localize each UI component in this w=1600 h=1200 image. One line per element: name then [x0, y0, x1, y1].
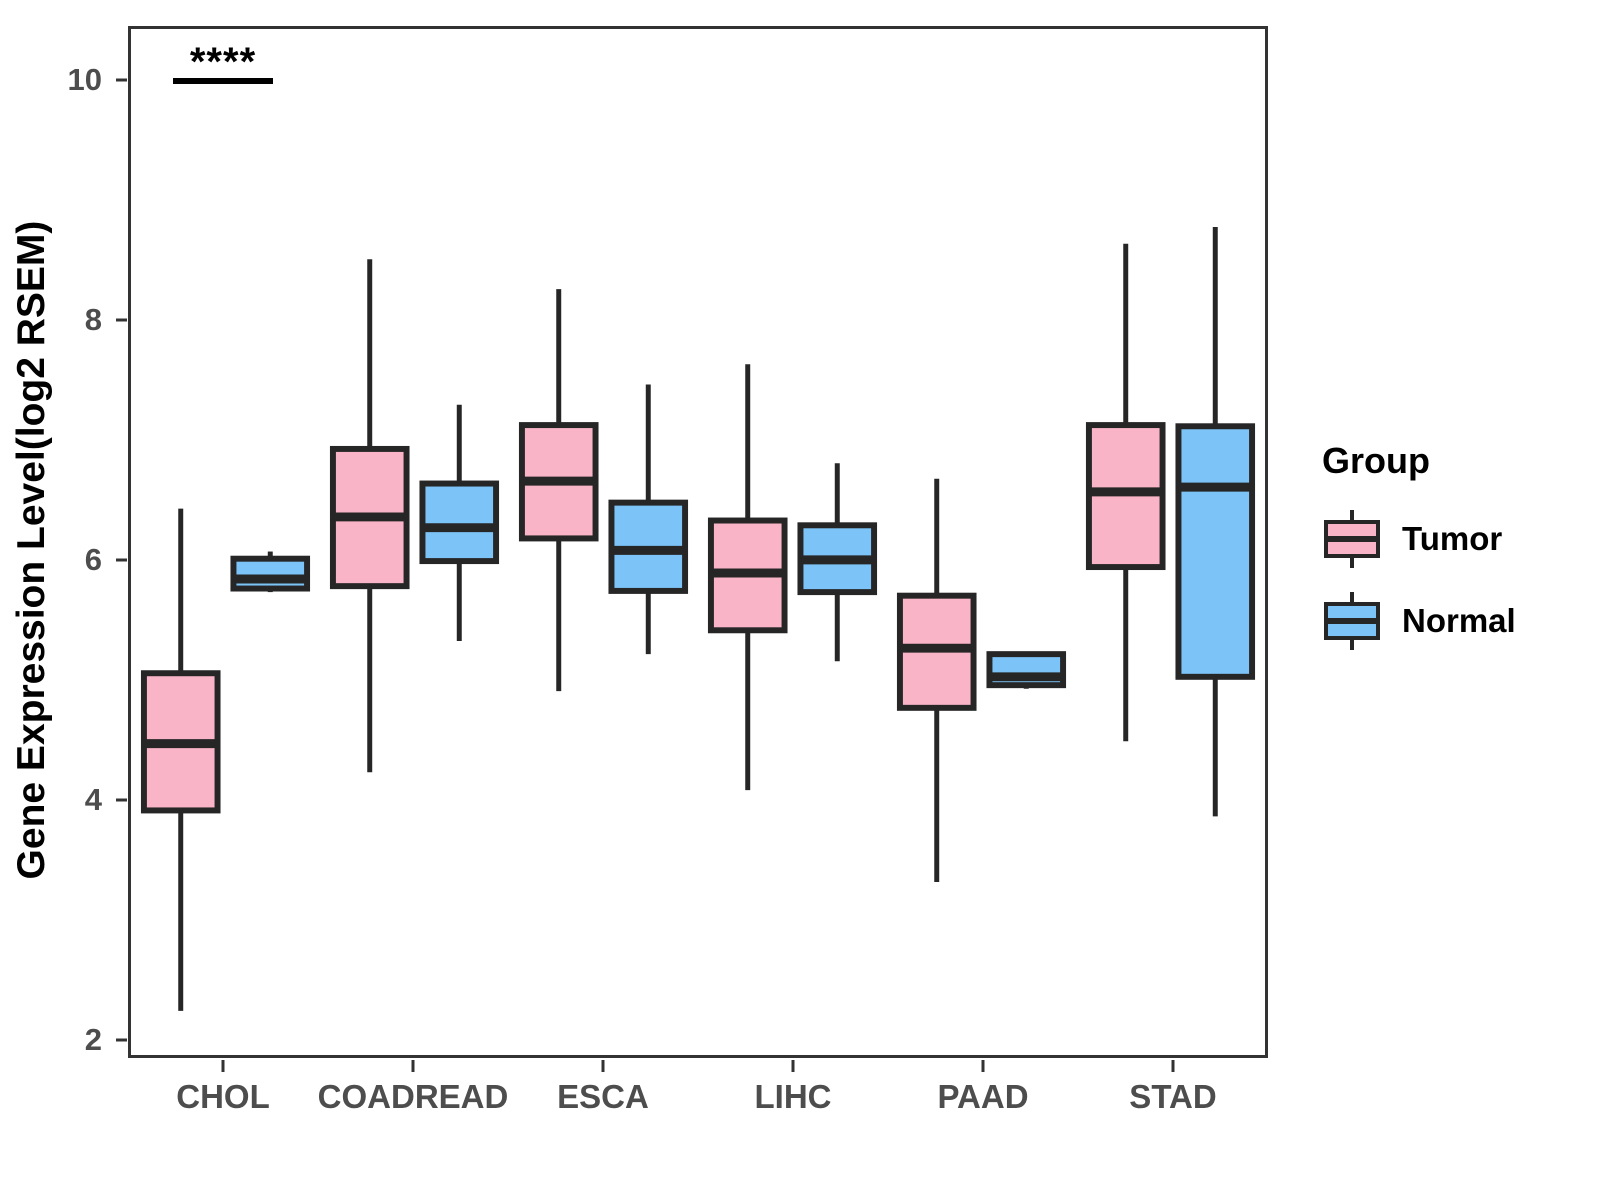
y-tick-mark [116, 799, 127, 802]
legend-median [1324, 618, 1380, 624]
box-esca-tumor [522, 289, 596, 691]
box-coadread-tumor [333, 259, 407, 772]
box-stad-normal [1178, 227, 1252, 816]
y-tick-label: 4 [85, 782, 102, 818]
legend-median [1324, 536, 1380, 542]
y-tick-mark [116, 559, 127, 562]
y-tick-label: 10 [68, 62, 102, 98]
chart-root: Gene Expression Level(log2 RSEM) 246810 … [0, 0, 1600, 1200]
legend-label: Tumor [1402, 520, 1502, 558]
box-chol-tumor [144, 509, 218, 1011]
box-lihc-normal [800, 463, 874, 661]
x-tick-label-coadread: COADREAD [318, 1078, 509, 1116]
y-tick-label: 8 [85, 302, 102, 338]
box-chol-normal [233, 552, 307, 593]
box-esca-normal [611, 385, 685, 655]
x-tick-mark [222, 1060, 225, 1072]
x-tick-label-lihc: LIHC [755, 1078, 832, 1116]
x-tick-label-paad: PAAD [937, 1078, 1028, 1116]
x-tick-label-chol: CHOL [176, 1078, 270, 1116]
box-coadread-normal [422, 405, 496, 641]
legend-items: TumorNormal [1322, 508, 1582, 652]
y-axis-title: Gene Expression Level(log2 RSEM) [0, 0, 64, 1100]
box-lihc-tumor [711, 364, 785, 790]
box-paad-tumor [900, 479, 974, 882]
boxplot-canvas [131, 29, 1265, 1055]
y-tick-label: 6 [85, 542, 102, 578]
legend: Group TumorNormal [1322, 440, 1582, 672]
y-tick-label: 2 [85, 1022, 102, 1058]
y-tick-mark [116, 1039, 127, 1042]
x-tick-label-esca: ESCA [557, 1078, 649, 1116]
plot-panel [128, 26, 1268, 1058]
legend-item-normal[interactable]: Normal [1322, 590, 1582, 652]
x-tick-mark [412, 1060, 415, 1072]
x-tick-mark [1172, 1060, 1175, 1072]
legend-key-tumor-icon [1322, 508, 1384, 570]
y-tick-mark [116, 319, 127, 322]
legend-title: Group [1322, 440, 1582, 482]
x-tick-mark [602, 1060, 605, 1072]
x-tick-mark [792, 1060, 795, 1072]
legend-item-tumor[interactable]: Tumor [1322, 508, 1582, 570]
x-tick-mark [982, 1060, 985, 1072]
legend-label: Normal [1402, 602, 1516, 640]
box-paad-normal [989, 653, 1063, 689]
x-tick-label-stad: STAD [1129, 1078, 1216, 1116]
box-stad-tumor [1089, 244, 1163, 741]
legend-key-normal-icon [1322, 590, 1384, 652]
y-tick-mark [116, 79, 127, 82]
significance-stars: **** [190, 40, 256, 85]
